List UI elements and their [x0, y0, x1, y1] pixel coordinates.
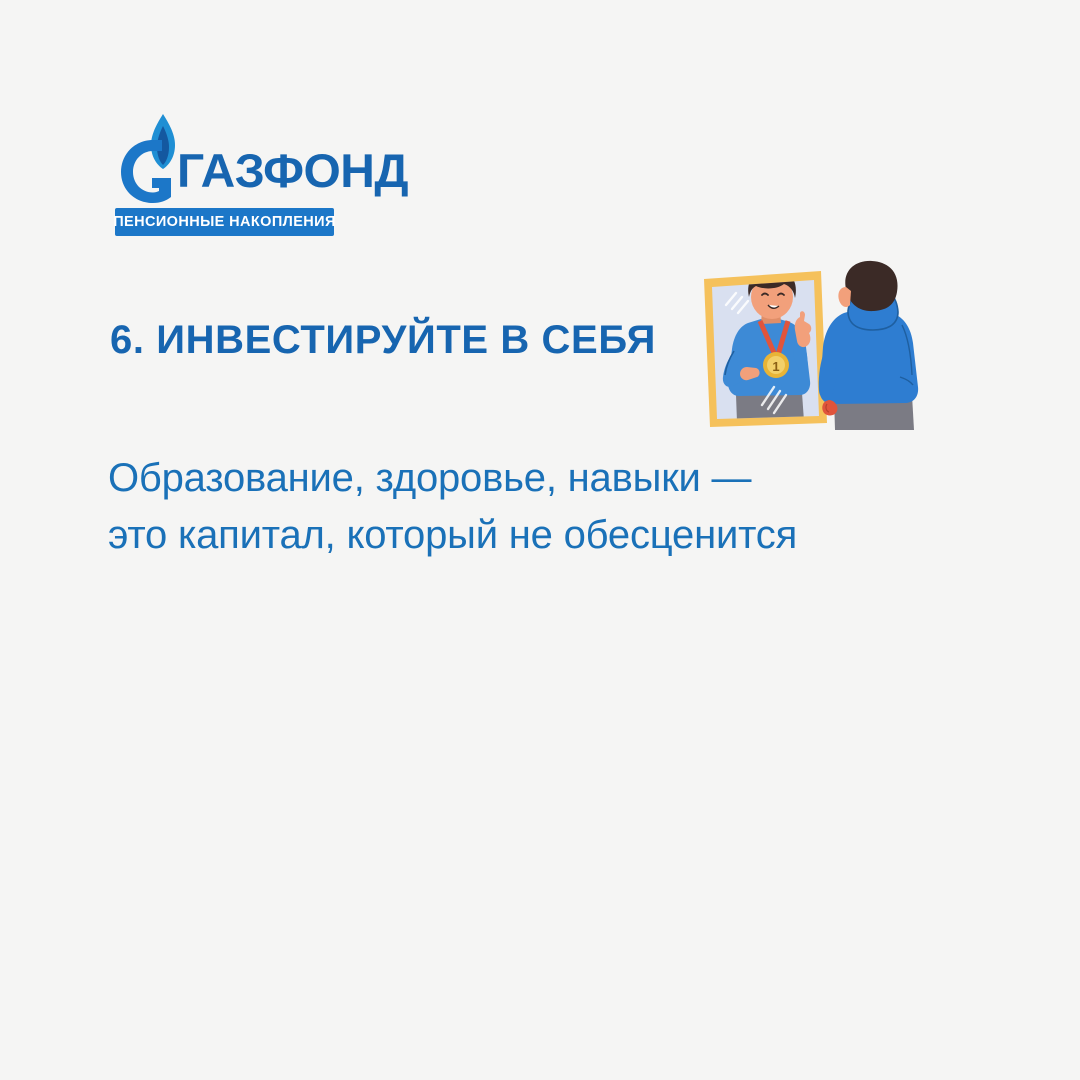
logo-subtitle-text: ПЕНСИОННЫЕ НАКОПЛЕНИЯ: [113, 215, 336, 230]
medal-number: 1: [772, 359, 779, 374]
back-hair: [845, 261, 897, 311]
slide-canvas: ГАЗФОНД ПЕНСИОННЫЕ НАКОПЛЕНИЯ 6. ИНВЕСТИ…: [0, 0, 1080, 1080]
logo-wordmark: ГАЗФОНД: [177, 147, 408, 194]
gazfond-logo: ГАЗФОНД ПЕНСИОННЫЕ НАКОПЛЕНИЯ: [115, 112, 340, 238]
back-face-sliver: [838, 287, 851, 307]
page-title: 6. ИНВЕСТИРУЙТЕ В СЕБЯ: [110, 318, 656, 362]
body-text: Образование, здоровье, навыки — это капи…: [108, 450, 938, 564]
back-figure: [819, 261, 918, 430]
logo-subtitle-bar: ПЕНСИОННЫЕ НАКОПЛЕНИЯ: [115, 208, 334, 236]
logo-mark-row: ГАЗФОНД: [115, 112, 340, 208]
person-mirror-medal-illustration: 1: [690, 255, 935, 430]
illustration-svg: 1: [690, 255, 935, 430]
